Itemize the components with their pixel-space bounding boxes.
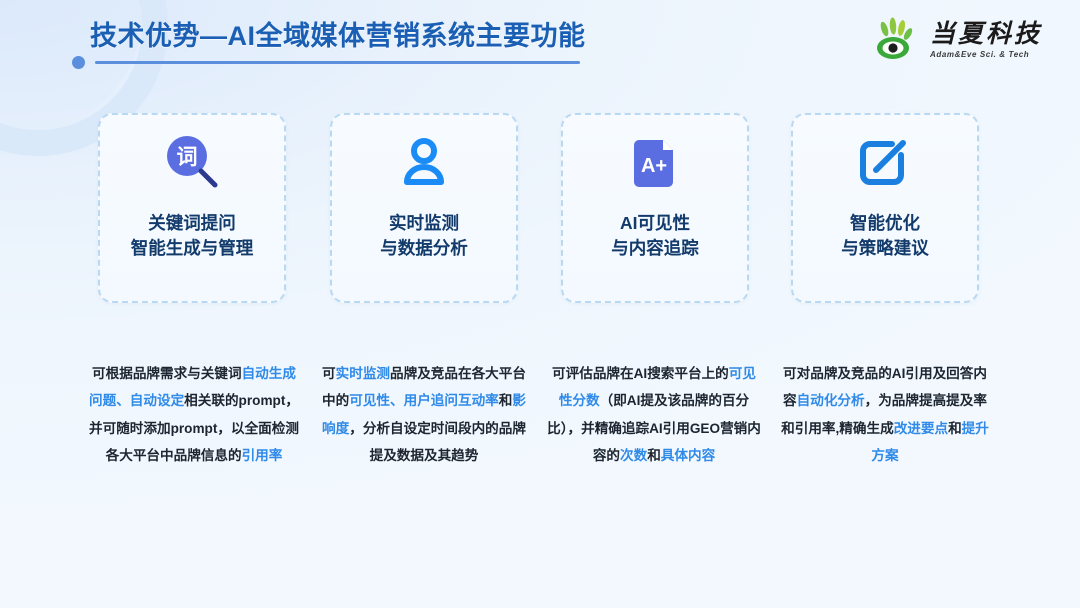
card-title-line2: 智能生成与管理: [131, 236, 254, 261]
svg-text:词: 词: [177, 146, 198, 169]
plain-text: 可评估品牌在AI搜索平台上的: [552, 366, 729, 381]
green-hand-eye-logo-icon: [874, 16, 922, 64]
highlighted-text: 自动化分析: [797, 393, 865, 408]
feature-card-monitoring[interactable]: 实时监测 与数据分析: [330, 113, 518, 303]
feature-card-optimization[interactable]: 智能优化 与策略建议: [791, 113, 979, 303]
company-logo: 当夏科技 Adam&Eve Sci. & Tech: [874, 14, 1042, 66]
document-grade-a-plus-icon: A+: [622, 115, 688, 211]
plain-text: 和: [647, 448, 661, 463]
logo-company-name-en: Adam&Eve Sci. & Tech: [930, 50, 1042, 59]
title-bullet-dot: [72, 56, 85, 69]
card-title-line1: 实时监测: [380, 211, 468, 236]
highlighted-text: 改进要点: [894, 421, 948, 436]
card-title-line2: 与数据分析: [380, 236, 468, 261]
highlighted-text: 引用率: [242, 448, 283, 463]
feature-card-row: 词 关键词提问 智能生成与管理 实时监测 与数据分析: [0, 113, 1080, 303]
svg-text:A+: A+: [641, 155, 667, 177]
feature-card-title: AI可见性 与内容追踪: [611, 211, 699, 262]
feature-card-title: 实时监测 与数据分析: [380, 211, 468, 262]
feature-description-keyword: 可根据品牌需求与关键词自动生成问题、自动设定相关联的prompt，并可随时添加p…: [86, 360, 302, 470]
plain-text: 和: [948, 421, 962, 436]
feature-description-optimization: 可对品牌及竞品的AI引用及回答内容自动化分析，为品牌提高提及率和引用率,精确生成…: [777, 360, 993, 470]
plain-text: 可: [322, 366, 336, 381]
highlighted-text: 可见性、用户追问互动率: [349, 393, 499, 408]
card-title-line1: 关键词提问: [131, 211, 254, 236]
user-person-icon: [391, 115, 457, 211]
plain-text: 可根据品牌需求与关键词: [92, 366, 242, 381]
highlighted-text: 实时监测: [336, 366, 390, 381]
highlighted-text: 次数: [620, 448, 647, 463]
feature-card-title: 智能优化 与策略建议: [841, 211, 929, 262]
plain-text: 和: [499, 393, 513, 408]
slide-background: 技术优势—AI全域媒体营销系统主要功能 当夏科技 Adam&Eve Sci. &…: [0, 0, 1080, 608]
feature-description-monitoring: 可实时监测品牌及竞品在各大平台中的可见性、用户追问互动率和影响度，分析自设定时间…: [316, 360, 532, 470]
card-title-line2: 与策略建议: [841, 236, 929, 261]
feature-card-visibility[interactable]: A+ AI可见性 与内容追踪: [561, 113, 749, 303]
card-title-line2: 与内容追踪: [611, 236, 699, 261]
page-title: 技术优势—AI全域媒体营销系统主要功能: [90, 14, 586, 53]
slide-header: 技术优势—AI全域媒体营销系统主要功能 当夏科技 Adam&Eve Sci. &…: [0, 0, 1080, 86]
edit-square-pencil-icon: [852, 115, 918, 211]
logo-company-name-cn: 当夏科技: [930, 21, 1042, 47]
title-underline-rule: [95, 61, 580, 64]
feature-description-visibility: 可评估品牌在AI搜索平台上的可见性分数（即AI提及该品牌的百分比），并精确追踪A…: [546, 360, 762, 470]
card-title-line1: AI可见性: [611, 211, 699, 236]
feature-card-keyword[interactable]: 词 关键词提问 智能生成与管理: [98, 113, 286, 303]
magnifier-keyword-icon: 词: [159, 115, 225, 211]
feature-card-title: 关键词提问 智能生成与管理: [131, 211, 254, 262]
plain-text: ，分析自设定时间段内的品牌提及数据及其趋势: [349, 421, 526, 463]
highlighted-text: 具体内容: [661, 448, 715, 463]
card-title-line1: 智能优化: [841, 211, 929, 236]
